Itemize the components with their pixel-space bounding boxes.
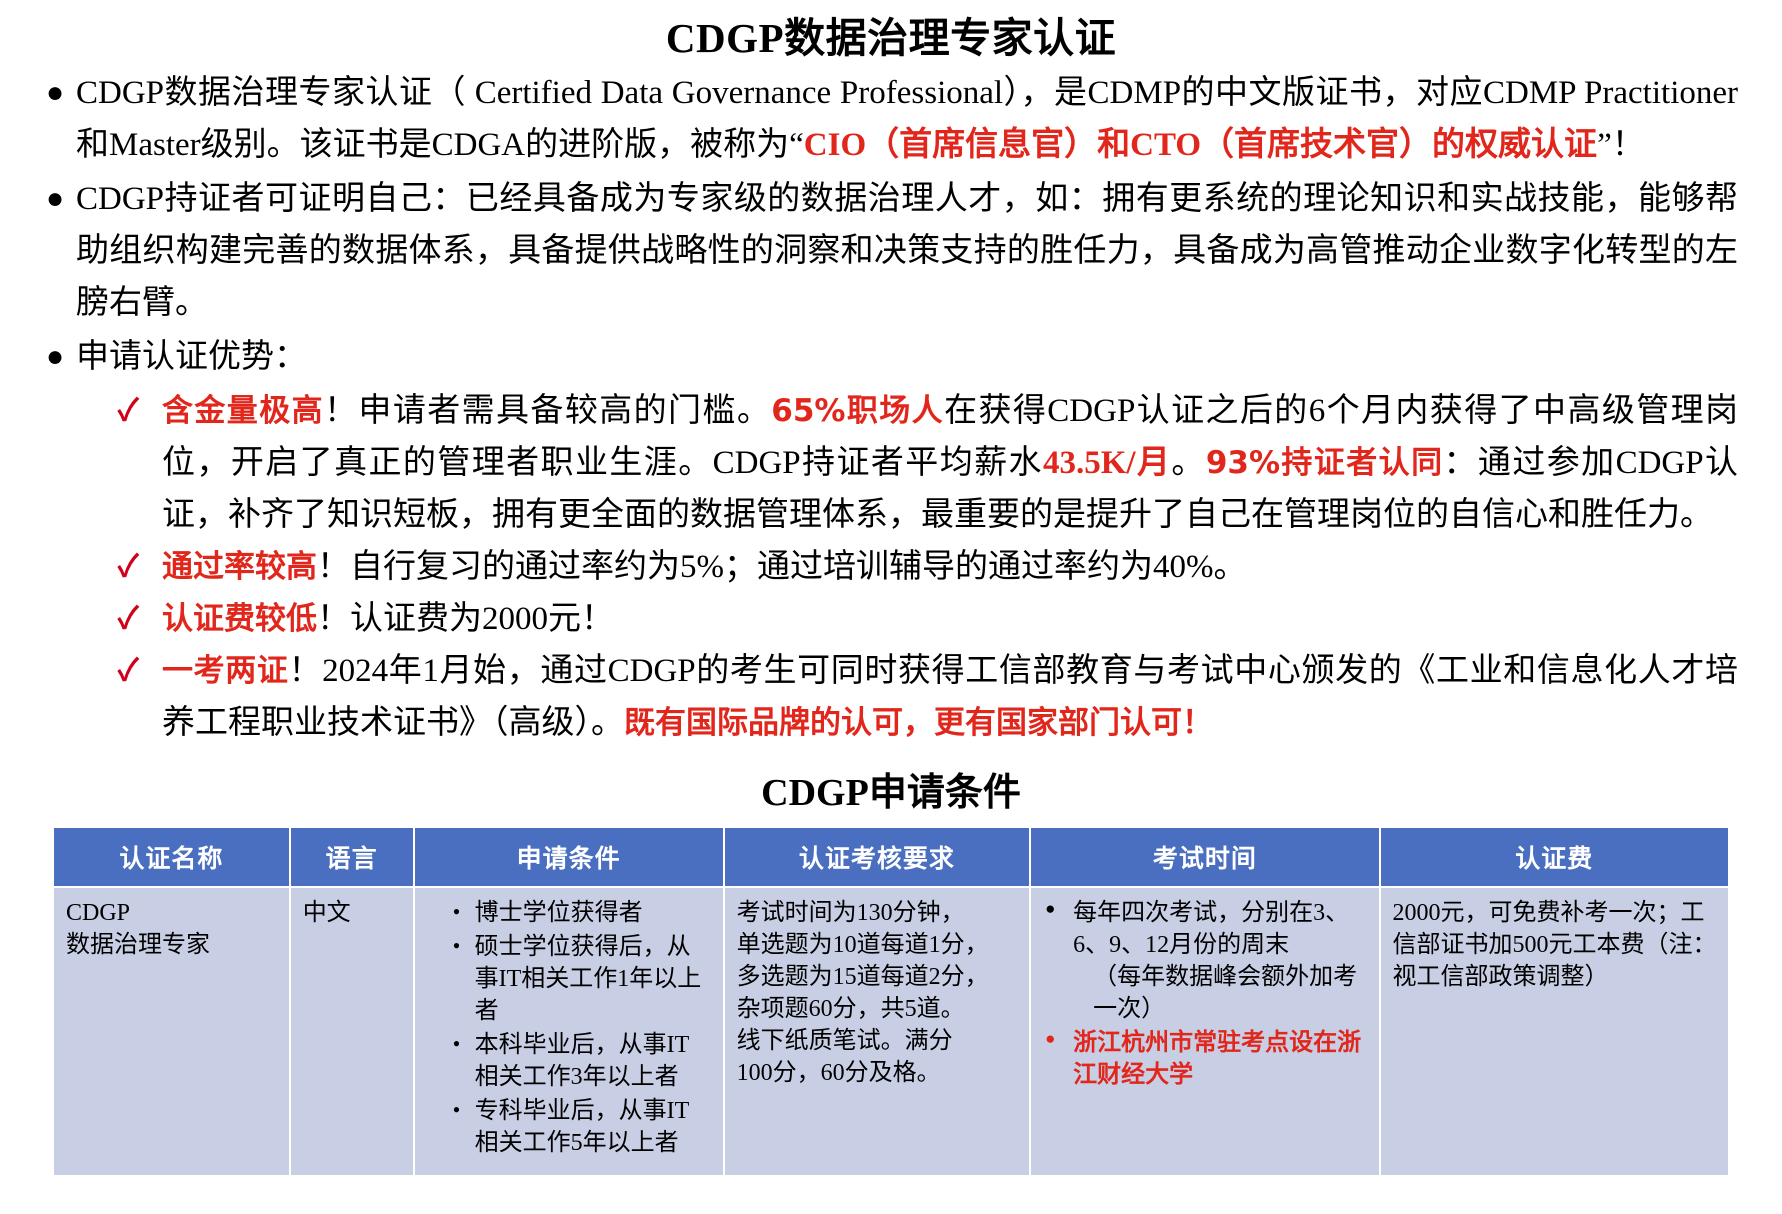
bullet-1-seg-2: ”！ <box>1597 127 1645 163</box>
th-language: 语言 <box>290 827 414 887</box>
requirement-item: 博士学位获得者 <box>453 898 713 930</box>
requirement-item: 本科毕业后，从事IT相关工作3年以上者 <box>453 1030 713 1094</box>
check-icon: ✓ <box>118 541 162 593</box>
th-exam-spec: 认证考核要求 <box>724 827 1031 887</box>
exam-spec-line: 考试时间为130分钟， <box>737 898 1020 930</box>
td-requirements: 博士学位获得者 硕士学位获得后，从事IT相关工作1年以上者 本科毕业后，从事IT… <box>414 887 724 1176</box>
bullet-item-1-text: CDGP数据治理专家认证（ Certified Data Governance … <box>76 67 1738 171</box>
cert-name-line-2: 数据治理专家 <box>66 930 279 962</box>
th-fee: 认证费 <box>1380 827 1729 887</box>
exam-location-item: 浙江杭州市常驻考点设在浙江财经大学 <box>1043 1028 1368 1092</box>
td-exam-time: 每年四次考试，分别在3、6、9、12月份的周末 （每年数据峰会额外加考一次） 浙… <box>1030 887 1379 1176</box>
table-head: 认证名称 语言 申请条件 认证考核要求 考试时间 认证费 <box>53 827 1729 887</box>
page-title: CDGP数据治理专家认证 <box>0 14 1782 63</box>
table-title: CDGP申请条件 <box>0 761 1782 816</box>
check-item-1-text: 含金量极高！申请者需具备较高的门槛。65%职场人在获得CDGP认证之后的6个月内… <box>162 385 1738 541</box>
bullet-dot-icon: ● <box>34 331 76 383</box>
check-item-4: ✓ 一考两证！2024年1月始，通过CDGP的考生可同时获得工信部教育与考试中心… <box>118 645 1738 749</box>
conditions-table: 认证名称 语言 申请条件 认证考核要求 考试时间 认证费 CDGP 数据治理专家… <box>52 826 1730 1177</box>
slide-root: CDGP数据治理专家认证 ● CDGP数据治理专家认证（ Certified D… <box>0 14 1782 1214</box>
exam-spec-line: 100分，60分及格。 <box>737 1058 1020 1090</box>
td-exam-spec: 考试时间为130分钟， 单选题为10道每道1分， 多选题为15道每道2分， 杂项… <box>724 887 1031 1176</box>
check-icon: ✓ <box>118 593 162 645</box>
bullet-item-2-text: CDGP持证者可证明自己：已经具备成为专家级的数据治理人才，如：拥有更系统的理论… <box>76 173 1738 329</box>
bullet-item-3: ● 申请认证优势： <box>34 331 1738 383</box>
exam-time-note: （每年数据峰会额外加考一次） <box>1073 962 1368 1026</box>
table-body: CDGP 数据治理专家 中文 博士学位获得者 硕士学位获得后，从事IT相关工作1… <box>53 887 1729 1176</box>
check-item-1: ✓ 含金量极高！申请者需具备较高的门槛。65%职场人在获得CDGP认证之后的6个… <box>118 385 1738 541</box>
check-1-seg-5: 。 <box>1171 445 1205 481</box>
check-item-2-text: 通过率较高！自行复习的通过率约为5%；通过培训辅导的通过率约为40%。 <box>162 541 1738 593</box>
check-3-seg-0: 认证费较低 <box>162 601 317 637</box>
check-item-4-text: 一考两证！2024年1月始，通过CDGP的考生可同时获得工信部教育与考试中心颁发… <box>162 645 1738 749</box>
table-row: CDGP 数据治理专家 中文 博士学位获得者 硕士学位获得后，从事IT相关工作1… <box>53 887 1729 1176</box>
check-1-seg-1: ！申请者需具备较高的门槛。 <box>324 393 771 429</box>
check-item-3: ✓ 认证费较低！认证费为2000元！ <box>118 593 1738 645</box>
requirement-item: 专科毕业后，从事IT相关工作5年以上者 <box>453 1096 713 1160</box>
bullet-item-1: ● CDGP数据治理专家认证（ Certified Data Governanc… <box>34 67 1738 171</box>
check-1-seg-6: 93%持证者认同 <box>1206 445 1444 481</box>
check-1-seg-2: 65%职场人 <box>771 393 944 429</box>
check-4-seg-0: 一考两证 <box>162 653 289 689</box>
check-icon: ✓ <box>118 645 162 697</box>
conditions-table-wrapper: 认证名称 语言 申请条件 认证考核要求 考试时间 认证费 CDGP 数据治理专家… <box>0 826 1782 1177</box>
exam-time-item: 每年四次考试，分别在3、6、9、12月份的周末 （每年数据峰会额外加考一次） <box>1043 898 1368 1026</box>
bullet-1-seg-1: CIO（首席信息官）和CTO（首席技术官）的权威认证 <box>804 127 1597 163</box>
check-icon: ✓ <box>118 385 162 437</box>
table-header-row: 认证名称 语言 申请条件 认证考核要求 考试时间 认证费 <box>53 827 1729 887</box>
th-requirements: 申请条件 <box>414 827 724 887</box>
check-1-seg-0: 含金量极高 <box>162 393 324 429</box>
exam-spec-line: 单选题为10道每道1分， <box>737 930 1020 962</box>
bullet-dot-icon: ● <box>34 67 76 119</box>
bullet-list: ● CDGP数据治理专家认证（ Certified Data Governanc… <box>0 67 1782 749</box>
check-3-seg-1: ！认证费为2000元！ <box>317 601 614 637</box>
bullet-item-2: ● CDGP持证者可证明自己：已经具备成为专家级的数据治理人才，如：拥有更系统的… <box>34 173 1738 329</box>
check-1-seg-4: 43.5K/月 <box>1043 445 1171 481</box>
th-exam-time: 考试时间 <box>1030 827 1379 887</box>
bullet-dot-icon: ● <box>34 173 76 225</box>
exam-spec-line: 多选题为15道每道2分， <box>737 962 1020 994</box>
advantages-checklist: ✓ 含金量极高！申请者需具备较高的门槛。65%职场人在获得CDGP认证之后的6个… <box>34 385 1738 749</box>
check-item-2: ✓ 通过率较高！自行复习的通过率约为5%；通过培训辅导的通过率约为40%。 <box>118 541 1738 593</box>
bullet-item-3-text: 申请认证优势： <box>76 331 1738 383</box>
cert-name-line-1: CDGP <box>66 898 279 930</box>
requirement-item: 硕士学位获得后，从事IT相关工作1年以上者 <box>453 932 713 1028</box>
check-2-seg-1: ！自行复习的通过率约为5%；通过培训辅导的通过率约为40%。 <box>317 549 1246 585</box>
th-cert-name: 认证名称 <box>53 827 290 887</box>
td-cert-name: CDGP 数据治理专家 <box>53 887 290 1176</box>
exam-spec-line: 杂项题60分，共5道。 <box>737 994 1020 1026</box>
check-4-seg-2: 既有国际品牌的认可，更有国家部门认可！ <box>624 705 1213 741</box>
exam-time-item-text: 每年四次考试，分别在3、6、9、12月份的周末 <box>1073 900 1349 958</box>
exam-time-list: 每年四次考试，分别在3、6、9、12月份的周末 （每年数据峰会额外加考一次） 浙… <box>1043 898 1368 1091</box>
requirements-list: 博士学位获得者 硕士学位获得后，从事IT相关工作1年以上者 本科毕业后，从事IT… <box>427 898 713 1159</box>
td-language: 中文 <box>290 887 414 1176</box>
exam-spec-line: 线下纸质笔试。满分 <box>737 1026 1020 1058</box>
check-2-seg-0: 通过率较高 <box>162 549 317 585</box>
td-fee: 2000元，可免费补考一次；工信部证书加500元工本费（注：视工信部政策调整） <box>1380 887 1729 1176</box>
check-item-3-text: 认证费较低！认证费为2000元！ <box>162 593 1738 645</box>
